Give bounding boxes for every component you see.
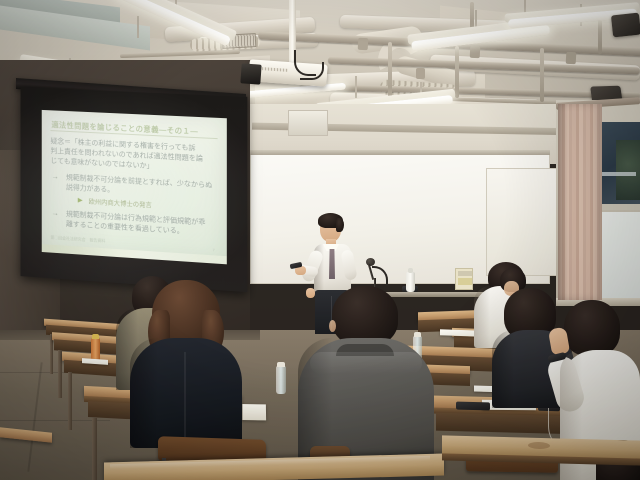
- desk-leg: [92, 418, 97, 480]
- presenter-hair-side: [336, 218, 344, 232]
- drop-pipe: [455, 46, 459, 98]
- lecture-hall-photo: 適法性問題を論じることの意義―その１― 疑念＝「株主の利益に関する権害を行っても…: [0, 0, 640, 480]
- attendee-ear: [329, 320, 336, 332]
- projector-lens-hood: [240, 63, 261, 84]
- pipe-coupling: [358, 38, 369, 51]
- attendee-center-left: [130, 280, 254, 448]
- attendee-cardigan-shadow: [130, 338, 158, 448]
- wall-soffit: [288, 110, 328, 136]
- pipe-coupling: [416, 68, 425, 79]
- curtain-shadow: [558, 104, 568, 300]
- light-hanger: [355, 76, 357, 98]
- attendee-shirt-shadow: [474, 286, 490, 348]
- desk-leg: [68, 372, 72, 430]
- presenter-necktie: [329, 249, 335, 279]
- attendee-top-shadow: [492, 330, 514, 408]
- screen-glare: [42, 110, 170, 264]
- bottle-cap: [277, 362, 285, 367]
- light-hanger: [137, 16, 139, 38]
- attendee-cardigan-seam: [184, 352, 186, 438]
- window-reflection-strip: [600, 172, 636, 176]
- pipe-coupling: [566, 52, 577, 65]
- microphone-arc: [372, 266, 388, 286]
- attendee-hair: [332, 286, 398, 346]
- whiteboard-secondary: [486, 168, 560, 276]
- projection-screen-border: 適法性問題を論じることの意義―その１― 疑念＝「株主の利益に関する権害を行っても…: [21, 87, 248, 292]
- projection-screen-surface: 適法性問題を論じることの意義―その１― 疑念＝「株主の利益に関する権害を行っても…: [42, 110, 227, 264]
- drop-pipe: [540, 48, 544, 102]
- eyeglasses-case: [456, 402, 490, 411]
- drop-pipe: [388, 42, 392, 102]
- window-view-foliage: [616, 140, 640, 200]
- water-bottle: [276, 366, 286, 394]
- bottle-cap: [92, 334, 99, 339]
- window-glass-frosted-lower: [600, 212, 640, 304]
- whiteboard-top-rail: [250, 150, 550, 155]
- window-mullion-horizontal: [596, 204, 640, 210]
- ceiling-speaker: [611, 13, 640, 38]
- attendee-hair: [564, 300, 620, 356]
- slide-page-number: 7: [213, 247, 215, 252]
